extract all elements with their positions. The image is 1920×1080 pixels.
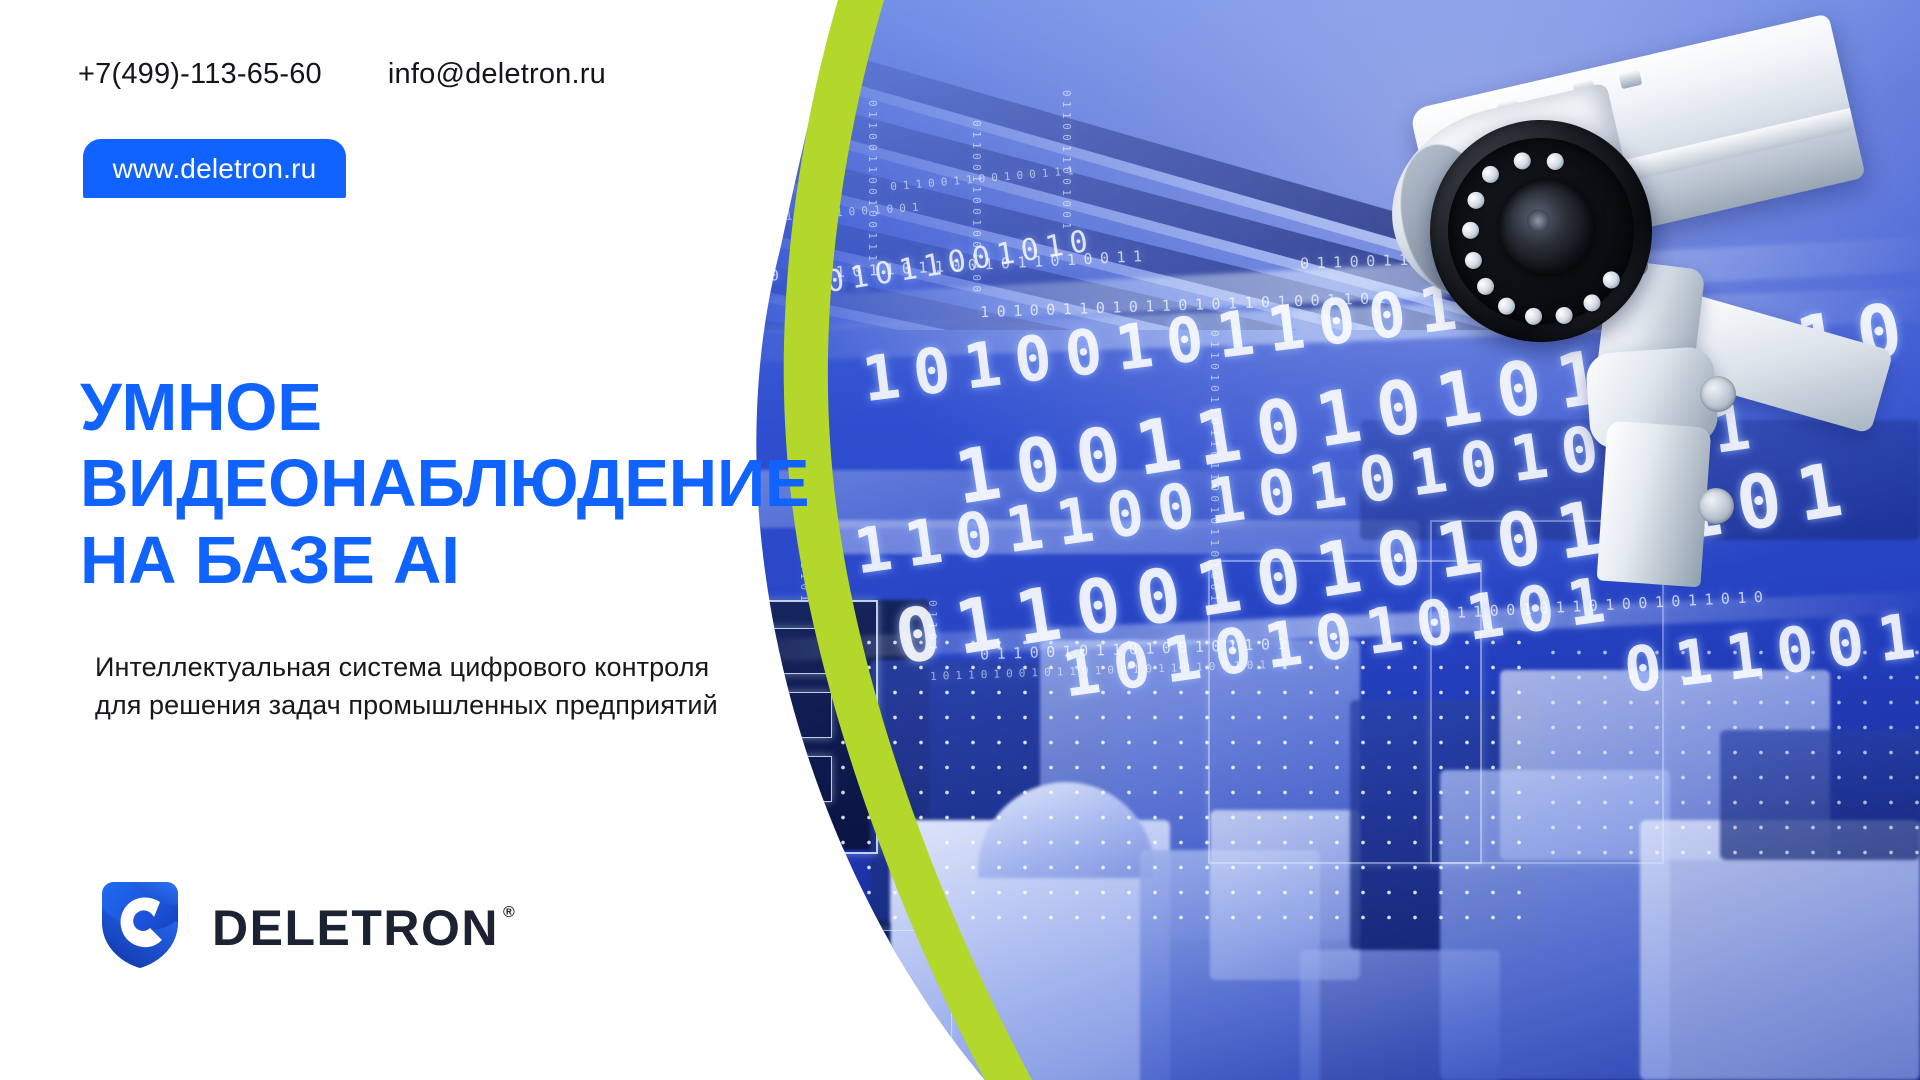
camera-mount-post <box>1597 421 1712 588</box>
content-pane: +7(499)-113-65-60 info@deletron.ru www.d… <box>0 0 980 1080</box>
brand-name: DELETRON <box>212 903 499 953</box>
headline-line-3: НА БАЗЕ AI <box>80 523 960 599</box>
website-button[interactable]: www.deletron.ru <box>83 139 346 198</box>
registered-trademark-icon: ® <box>503 905 516 921</box>
subtitle-line-1: Интеллектуальная система цифрового контр… <box>95 648 895 686</box>
headline-line-2: ВИДЕОНАБЛЮДЕНИЕ <box>80 446 960 522</box>
contact-email[interactable]: info@deletron.ru <box>388 58 606 91</box>
deletron-shield-icon <box>98 878 182 970</box>
brand-logo: DELETRON ® <box>98 878 516 970</box>
headline-line-1: УМНОЕ <box>80 370 960 446</box>
brand-wordmark: DELETRON ® <box>212 895 516 953</box>
subtitle-line-2: для решения задач промышленных предприят… <box>95 686 895 724</box>
contact-row: +7(499)-113-65-60 info@deletron.ru <box>78 58 606 91</box>
cctv-bullet-camera-icon <box>1302 20 1902 580</box>
page-title: УМНОЕ ВИДЕОНАБЛЮДЕНИЕ НА БАЗЕ AI <box>80 370 960 599</box>
camera-lens <box>1490 171 1605 286</box>
promo-slide: 01101011011011001011010011 1010011010110… <box>0 0 1920 1080</box>
contact-phone[interactable]: +7(499)-113-65-60 <box>78 58 322 91</box>
subtitle: Интеллектуальная система цифрового контр… <box>95 648 895 725</box>
